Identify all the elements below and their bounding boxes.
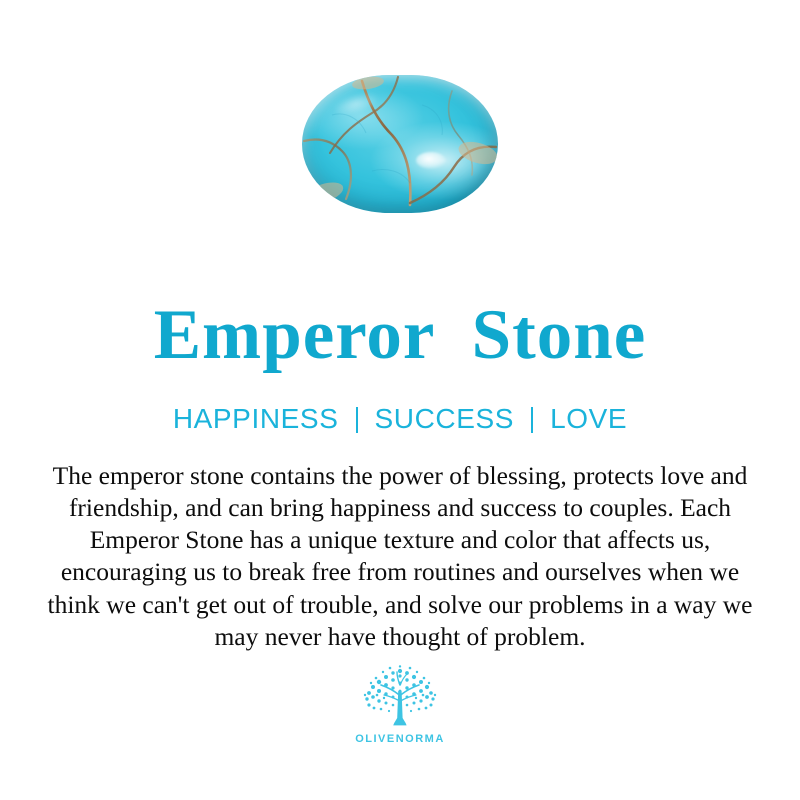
- brand-wordmark: OLIVENORMA: [355, 733, 445, 745]
- benefit-love: LOVE: [550, 405, 627, 433]
- product-description: The emperor stone contains the power of …: [42, 460, 758, 653]
- benefits-tagline: HAPPINESS SUCCESS LOVE: [173, 405, 627, 433]
- benefit-success: SUCCESS: [375, 405, 515, 433]
- tagline-separator: [356, 407, 358, 433]
- stone-highlight: [416, 152, 446, 169]
- product-image-area: [0, 0, 800, 300]
- emperor-stone-image: [302, 75, 498, 213]
- brand-logo: OLIVENORMA: [355, 665, 445, 745]
- stone-vein-pattern: [302, 75, 498, 213]
- tagline-separator: [531, 407, 533, 433]
- benefit-happiness: HAPPINESS: [173, 405, 339, 433]
- product-info-card: Emperor Stone HAPPINESS SUCCESS LOVE The…: [0, 0, 800, 800]
- tree-icon: [357, 665, 443, 731]
- page-title: Emperor Stone: [154, 300, 647, 371]
